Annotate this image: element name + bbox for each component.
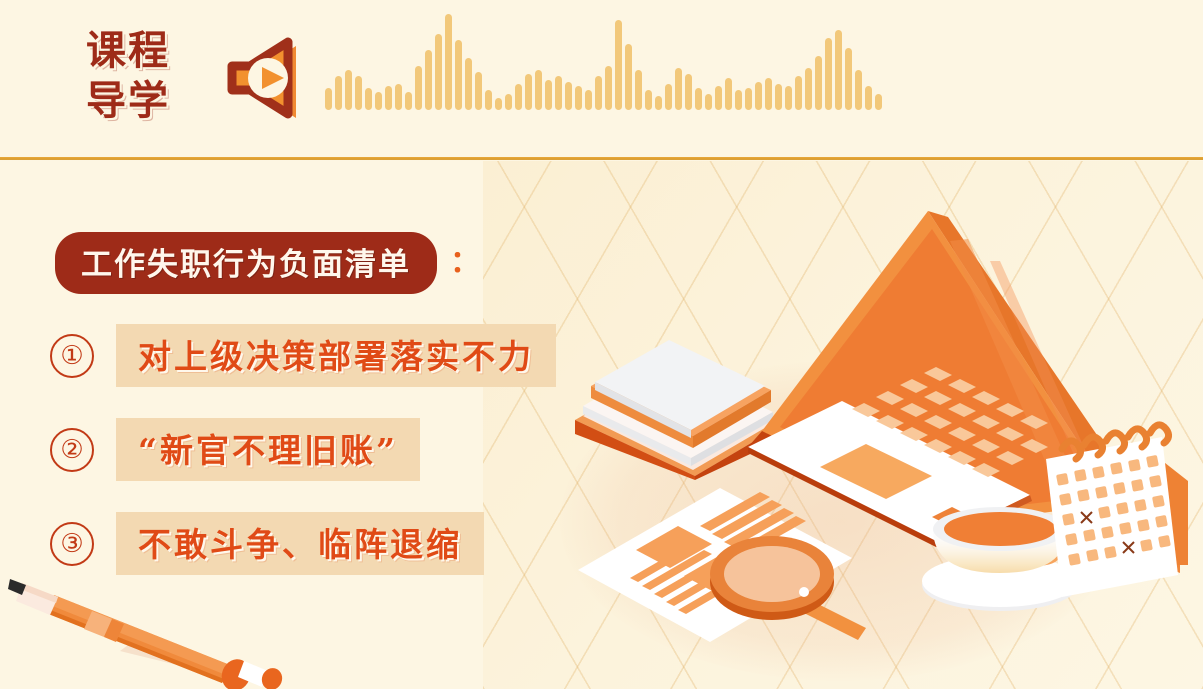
waveform-bar bbox=[605, 66, 612, 110]
waveform-bar bbox=[535, 70, 542, 110]
megaphone-play-icon bbox=[218, 36, 314, 128]
waveform-bar bbox=[435, 34, 442, 110]
waveform-bar bbox=[825, 38, 832, 110]
waveform-bar bbox=[445, 14, 452, 110]
waveform-bar bbox=[425, 50, 432, 110]
waveform-bar bbox=[545, 80, 552, 110]
waveform-bar bbox=[725, 78, 732, 110]
waveform-bar bbox=[415, 66, 422, 110]
header-banner: 课程 导学 bbox=[0, 0, 1203, 160]
waveform-bar bbox=[355, 76, 362, 110]
waveform-bar bbox=[665, 84, 672, 110]
waveform-bar bbox=[845, 48, 852, 110]
waveform-bar bbox=[575, 86, 582, 110]
waveform-bar bbox=[465, 58, 472, 110]
poster-canvas: 课程 导学 bbox=[0, 0, 1203, 689]
waveform-bar bbox=[375, 92, 382, 110]
list-item-band: 不敢斗争、临阵退缩 bbox=[116, 512, 484, 575]
waveform-bar bbox=[505, 94, 512, 110]
waveform-bar bbox=[485, 90, 492, 110]
waveform-bar bbox=[565, 82, 572, 110]
logo-line-2: 导学 bbox=[86, 76, 198, 126]
waveform-bar bbox=[805, 68, 812, 110]
waveform-bar bbox=[365, 88, 372, 110]
waveform-bar bbox=[875, 94, 882, 110]
list-item-number: ① bbox=[50, 334, 94, 378]
list-item-label: 不敢斗争、临阵退缩 bbox=[138, 525, 462, 564]
waveform-bar bbox=[735, 90, 742, 110]
waveform-bar bbox=[325, 88, 332, 110]
waveform-bar bbox=[745, 88, 752, 110]
list-item: ③ 不敢斗争、临阵退缩 bbox=[50, 512, 484, 575]
waveform-bar bbox=[595, 76, 602, 110]
section-title: 工作失职行为负面清单 ： bbox=[55, 232, 480, 294]
list-item-number: ③ bbox=[50, 522, 94, 566]
waveform-bar bbox=[395, 84, 402, 110]
waveform-bar bbox=[585, 90, 592, 110]
desk-calendar bbox=[1040, 415, 1203, 615]
waveform-bar bbox=[385, 86, 392, 110]
waveform-bar bbox=[855, 70, 862, 110]
waveform-bar bbox=[655, 96, 662, 110]
list-item-band: 对上级决策部署落实不力 bbox=[116, 324, 556, 387]
waveform-bar bbox=[345, 70, 352, 110]
waveform-bar bbox=[765, 78, 772, 110]
title-pill: 工作失职行为负面清单 bbox=[55, 232, 437, 294]
waveform-bar bbox=[635, 70, 642, 110]
list-item-number: ② bbox=[50, 428, 94, 472]
waveform-bar bbox=[705, 94, 712, 110]
document-with-magnifier bbox=[560, 460, 890, 650]
waveform-bar bbox=[695, 88, 702, 110]
list-item-label: “新官不理旧账” bbox=[138, 431, 398, 470]
course-guide-logo: 课程 导学 bbox=[86, 26, 198, 134]
waveform-bar bbox=[685, 74, 692, 110]
logo-line-1: 课程 bbox=[86, 26, 198, 76]
waveform-bar bbox=[525, 74, 532, 110]
waveform-bar bbox=[815, 56, 822, 110]
list-item-band: “新官不理旧账” bbox=[116, 418, 420, 481]
waveform-bar bbox=[645, 90, 652, 110]
waveform-bar bbox=[455, 40, 462, 110]
waveform-bar bbox=[795, 76, 802, 110]
waveform-bar bbox=[835, 30, 842, 110]
pencil bbox=[0, 565, 300, 689]
header-divider bbox=[0, 157, 1203, 160]
list-item: ① 对上级决策部署落实不力 bbox=[50, 324, 556, 387]
waveform-bar bbox=[475, 72, 482, 110]
waveform-bar bbox=[785, 86, 792, 110]
waveform-bar bbox=[405, 92, 412, 110]
waveform-bar bbox=[555, 76, 562, 110]
waveform-bar bbox=[715, 86, 722, 110]
waveform-bar bbox=[335, 76, 342, 110]
waveform-bar bbox=[775, 84, 782, 110]
list-item-label: 对上级决策部署落实不力 bbox=[138, 337, 534, 376]
waveform-bar bbox=[755, 82, 762, 110]
waveform-bar bbox=[865, 86, 872, 110]
waveform-bar bbox=[675, 68, 682, 110]
waveform-bar bbox=[615, 20, 622, 110]
waveform-bar bbox=[515, 84, 522, 110]
waveform-bar bbox=[625, 44, 632, 110]
audio-waveform bbox=[325, 12, 1115, 110]
waveform-bar bbox=[495, 98, 502, 110]
title-colon: ： bbox=[450, 248, 480, 278]
list-item: ② “新官不理旧账” bbox=[50, 418, 420, 481]
